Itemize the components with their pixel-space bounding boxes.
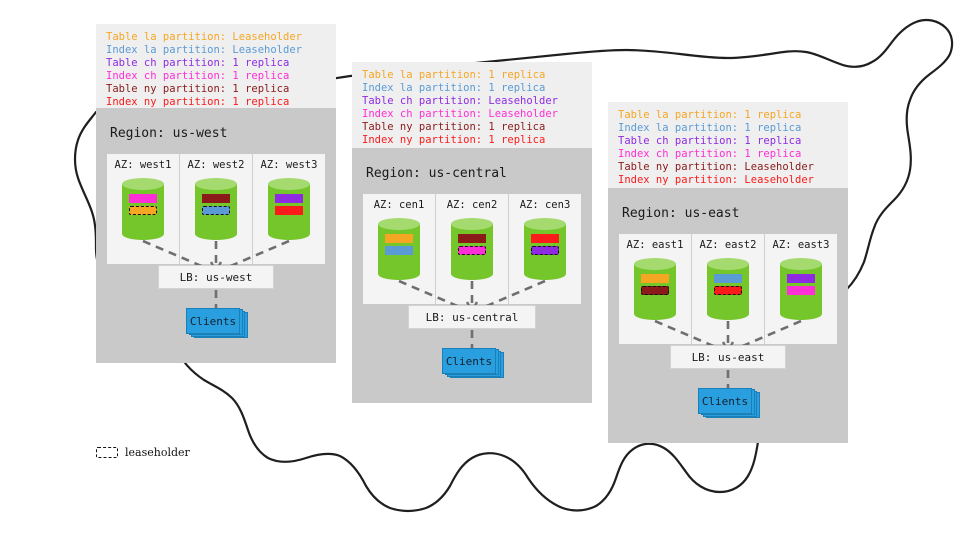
cylinder-top: [634, 258, 676, 270]
replica-range-cen1-1: [385, 246, 413, 255]
lb-label-us-east: LB: us-east: [692, 351, 765, 364]
az-cell-west2[interactable]: AZ: west2: [180, 154, 253, 264]
node-cylinder-cen1[interactable]: [378, 218, 420, 280]
az-cell-cen3[interactable]: AZ: cen3: [509, 194, 581, 304]
info-line-index-la: Index la partition: 1 replica: [618, 122, 838, 135]
az-strip-us-central: AZ: cen1 AZ: cen2: [363, 194, 581, 304]
az-cell-west3[interactable]: AZ: west3: [253, 154, 325, 264]
replica-range-west1-0: [129, 194, 157, 203]
lb-label-us-west: LB: us-west: [180, 271, 253, 284]
replica-range-east3-0: [787, 274, 815, 283]
info-line-table-la: Table la partition: 1 replica: [618, 109, 838, 122]
az-label-west3: AZ: west3: [253, 159, 325, 171]
cylinder-top: [378, 218, 420, 230]
az-label-cen1: AZ: cen1: [363, 199, 435, 211]
dashed-rect-icon: [96, 447, 118, 458]
az-cell-east2[interactable]: AZ: east2: [692, 234, 765, 344]
clients-box-us-west[interactable]: Clients: [186, 308, 248, 338]
clients-label-us-west: Clients: [190, 315, 236, 328]
node-cylinder-west1[interactable]: [122, 178, 164, 240]
region-panel-us-central: Region: us-central AZ: cen1 AZ: cen2: [352, 148, 592, 403]
cylinder-top: [122, 178, 164, 190]
region-panel-us-east: Region: us-east AZ: east1 AZ: east2: [608, 188, 848, 443]
lb-box-us-east[interactable]: LB: us-east: [670, 345, 786, 369]
az-label-cen2: AZ: cen2: [436, 199, 508, 211]
clients-box-us-central[interactable]: Clients: [442, 348, 504, 378]
lb-label-us-central: LB: us-central: [426, 311, 519, 324]
az-strip-us-east: AZ: east1 AZ: east2: [619, 234, 837, 344]
cylinder-top: [707, 258, 749, 270]
replica-range-west1-1: [129, 206, 157, 215]
region-title-us-central: Region: us-central: [366, 166, 507, 181]
az-label-east2: AZ: east2: [692, 239, 764, 251]
az-cell-cen2[interactable]: AZ: cen2: [436, 194, 509, 304]
az-label-east3: AZ: east3: [765, 239, 837, 251]
cylinder-top: [524, 218, 566, 230]
az-label-east1: AZ: east1: [619, 239, 691, 251]
replica-range-east2-0: [714, 274, 742, 283]
replica-range-east1-1: [641, 286, 669, 295]
az-cell-cen1[interactable]: AZ: cen1: [363, 194, 436, 304]
clients-box-us-east[interactable]: Clients: [698, 388, 760, 418]
lb-box-us-west[interactable]: LB: us-west: [158, 265, 274, 289]
az-label-west2: AZ: west2: [180, 159, 252, 171]
clients-label-us-east: Clients: [702, 395, 748, 408]
leaseholder-legend: leaseholder: [96, 446, 190, 459]
info-line-table-la: Table la partition: Leaseholder: [106, 31, 326, 44]
replica-range-cen2-0: [458, 234, 486, 243]
replica-range-west2-0: [202, 194, 230, 203]
az-strip-us-west: AZ: west1 AZ: west2: [107, 154, 325, 264]
replica-range-cen1-0: [385, 234, 413, 243]
node-cylinder-cen3[interactable]: [524, 218, 566, 280]
clients-card-front: Clients: [442, 348, 496, 374]
infobox-us-central: Table la partition: 1 replicaIndex la pa…: [352, 62, 592, 148]
replica-range-west2-1: [202, 206, 230, 215]
infobox-us-west: Table la partition: LeaseholderIndex la …: [96, 24, 336, 108]
region-title-us-east: Region: us-east: [622, 206, 739, 221]
info-line-table-ny: Table ny partition: 1 replica: [106, 83, 326, 96]
replica-range-cen3-1: [531, 246, 559, 255]
az-cell-west1[interactable]: AZ: west1: [107, 154, 180, 264]
cylinder-top: [268, 178, 310, 190]
az-cell-east1[interactable]: AZ: east1: [619, 234, 692, 344]
az-label-cen3: AZ: cen3: [509, 199, 581, 211]
replica-range-east2-1: [714, 286, 742, 295]
clients-card-front: Clients: [698, 388, 752, 414]
az-cell-east3[interactable]: AZ: east3: [765, 234, 837, 344]
cylinder-top: [195, 178, 237, 190]
replica-range-west3-1: [275, 206, 303, 215]
node-cylinder-east2[interactable]: [707, 258, 749, 320]
node-cylinder-east3[interactable]: [780, 258, 822, 320]
info-line-table-ny: Table ny partition: Leaseholder: [618, 161, 838, 174]
infobox-us-east: Table la partition: 1 replicaIndex la pa…: [608, 102, 848, 188]
info-line-index-ny: Index ny partition: Leaseholder: [618, 174, 838, 187]
info-line-table-ny: Table ny partition: 1 replica: [362, 121, 582, 134]
info-line-index-ch: Index ch partition: 1 replica: [106, 70, 326, 83]
region-title-us-west: Region: us-west: [110, 126, 227, 141]
lb-box-us-central[interactable]: LB: us-central: [408, 305, 536, 329]
replica-range-cen3-0: [531, 234, 559, 243]
info-line-table-la: Table la partition: 1 replica: [362, 69, 582, 82]
cylinder-top: [780, 258, 822, 270]
leaseholder-legend-label: leaseholder: [125, 446, 190, 459]
clients-label-us-central: Clients: [446, 355, 492, 368]
node-cylinder-west3[interactable]: [268, 178, 310, 240]
cylinder-top: [451, 218, 493, 230]
replica-range-east3-1: [787, 286, 815, 295]
az-label-west1: AZ: west1: [107, 159, 179, 171]
info-line-table-ch: Table ch partition: 1 replica: [618, 135, 838, 148]
info-line-index-ch: Index ch partition: Leaseholder: [362, 108, 582, 121]
node-cylinder-east1[interactable]: [634, 258, 676, 320]
region-panel-us-west: Region: us-west AZ: west1 AZ: west2: [96, 108, 336, 363]
info-line-index-ny: Index ny partition: 1 replica: [362, 134, 582, 147]
clients-card-front: Clients: [186, 308, 240, 334]
node-cylinder-west2[interactable]: [195, 178, 237, 240]
info-line-table-ch: Table ch partition: Leaseholder: [362, 95, 582, 108]
info-line-index-la: Index la partition: 1 replica: [362, 82, 582, 95]
node-cylinder-cen2[interactable]: [451, 218, 493, 280]
info-line-index-la: Index la partition: Leaseholder: [106, 44, 326, 57]
info-line-table-ch: Table ch partition: 1 replica: [106, 57, 326, 70]
replica-range-cen2-1: [458, 246, 486, 255]
replica-range-east1-0: [641, 274, 669, 283]
info-line-index-ch: Index ch partition: 1 replica: [618, 148, 838, 161]
diagram-canvas: Table la partition: LeaseholderIndex la …: [0, 0, 960, 540]
replica-range-west3-0: [275, 194, 303, 203]
